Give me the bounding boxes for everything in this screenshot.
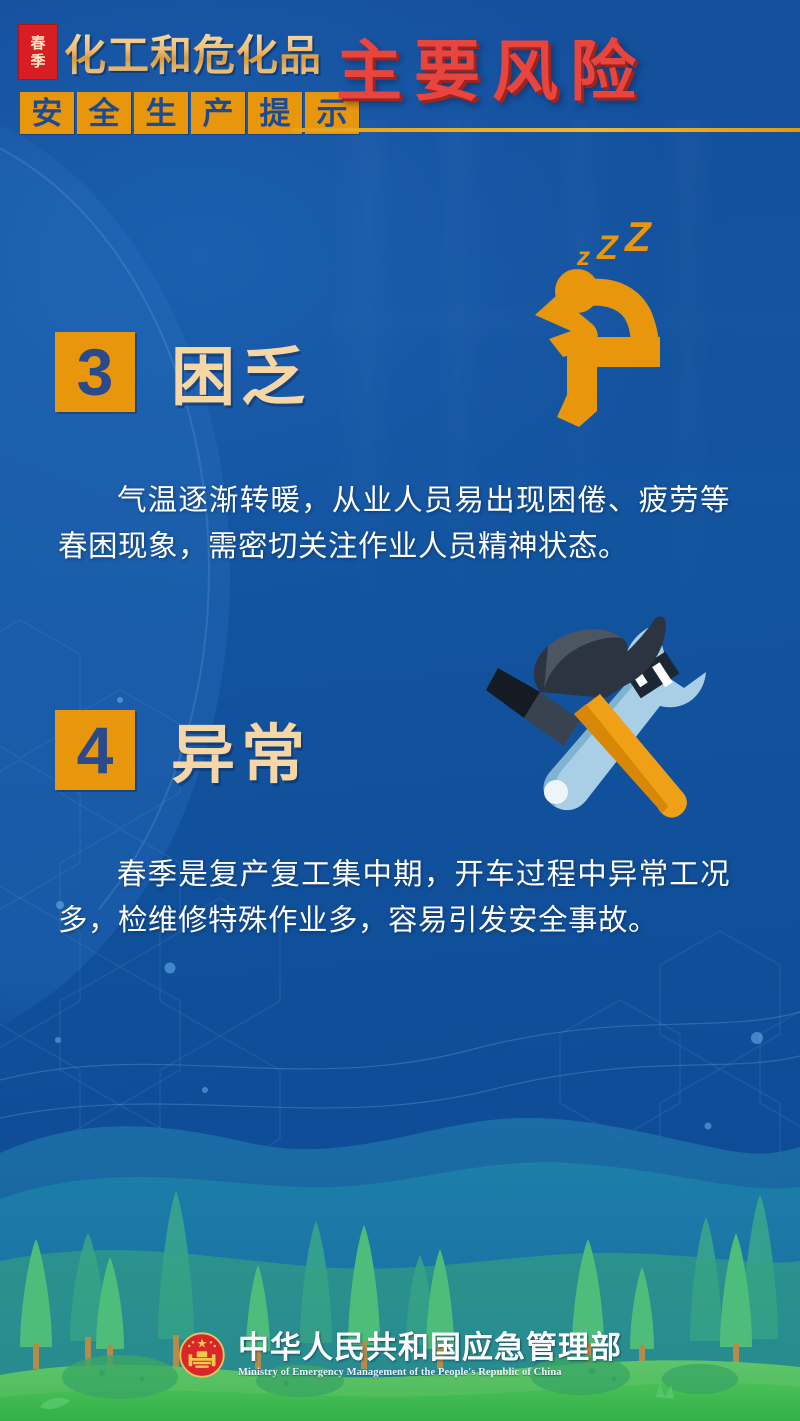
section-3-heading: 3 困乏 bbox=[55, 326, 311, 418]
section-3-number: 3 bbox=[55, 332, 135, 412]
section-4-headword: 异常 bbox=[171, 704, 311, 796]
china-national-emblem-icon bbox=[178, 1331, 226, 1379]
svg-text:Z: Z bbox=[596, 229, 619, 267]
section-3-headword: 困乏 bbox=[171, 326, 311, 418]
subtitle-box-2: 全 bbox=[77, 92, 131, 134]
section-4-heading: 4 异常 bbox=[55, 704, 311, 796]
subtitle-box-3: 生 bbox=[134, 92, 188, 134]
poster-root: 春 季 化工和危化品 安 全 生 产 提 示 主要风险 3 困乏 z Z Z bbox=[0, 0, 800, 1421]
section-4-number: 4 bbox=[55, 710, 135, 790]
section-3-body: 气温逐渐转暖，从业人员易出现困倦、疲劳等春困现象，需密切关注作业人员精神状态。 bbox=[58, 478, 730, 569]
footer-brand-text: 中华人民共和国应急管理部 Ministry of Emergency Manag… bbox=[238, 1332, 622, 1379]
seal-char-1: 春 bbox=[30, 36, 45, 51]
section-4-body: 春季是复产复工集中期，开车过程中异常工况多，检维修特殊作业多，容易引发安全事故。 bbox=[58, 852, 730, 943]
poster-header: 春 季 化工和危化品 安 全 生 产 提 示 主要风险 bbox=[0, 0, 800, 150]
header-gold-title: 化工和危化品 bbox=[64, 22, 322, 83]
subtitle-box-1: 安 bbox=[20, 92, 74, 134]
subtitle-box-4: 产 bbox=[191, 92, 245, 134]
svg-text:Z: Z bbox=[624, 215, 652, 260]
seal-char-2: 季 bbox=[30, 54, 45, 69]
footer-organization-en: Ministry of Emergency Management of the … bbox=[238, 1367, 562, 1378]
zzz-label: z bbox=[576, 241, 590, 271]
hammer-wrench-icon bbox=[478, 602, 718, 827]
header-main-title: 主要风险 bbox=[336, 18, 648, 114]
spring-season-seal: 春 季 bbox=[18, 24, 58, 80]
header-gold-divider bbox=[292, 128, 800, 132]
sleeping-person-icon: z Z Z bbox=[505, 215, 720, 430]
footer-organization-cn: 中华人民共和国应急管理部 bbox=[238, 1332, 622, 1365]
footer-brand: 中华人民共和国应急管理部 Ministry of Emergency Manag… bbox=[0, 1331, 800, 1379]
